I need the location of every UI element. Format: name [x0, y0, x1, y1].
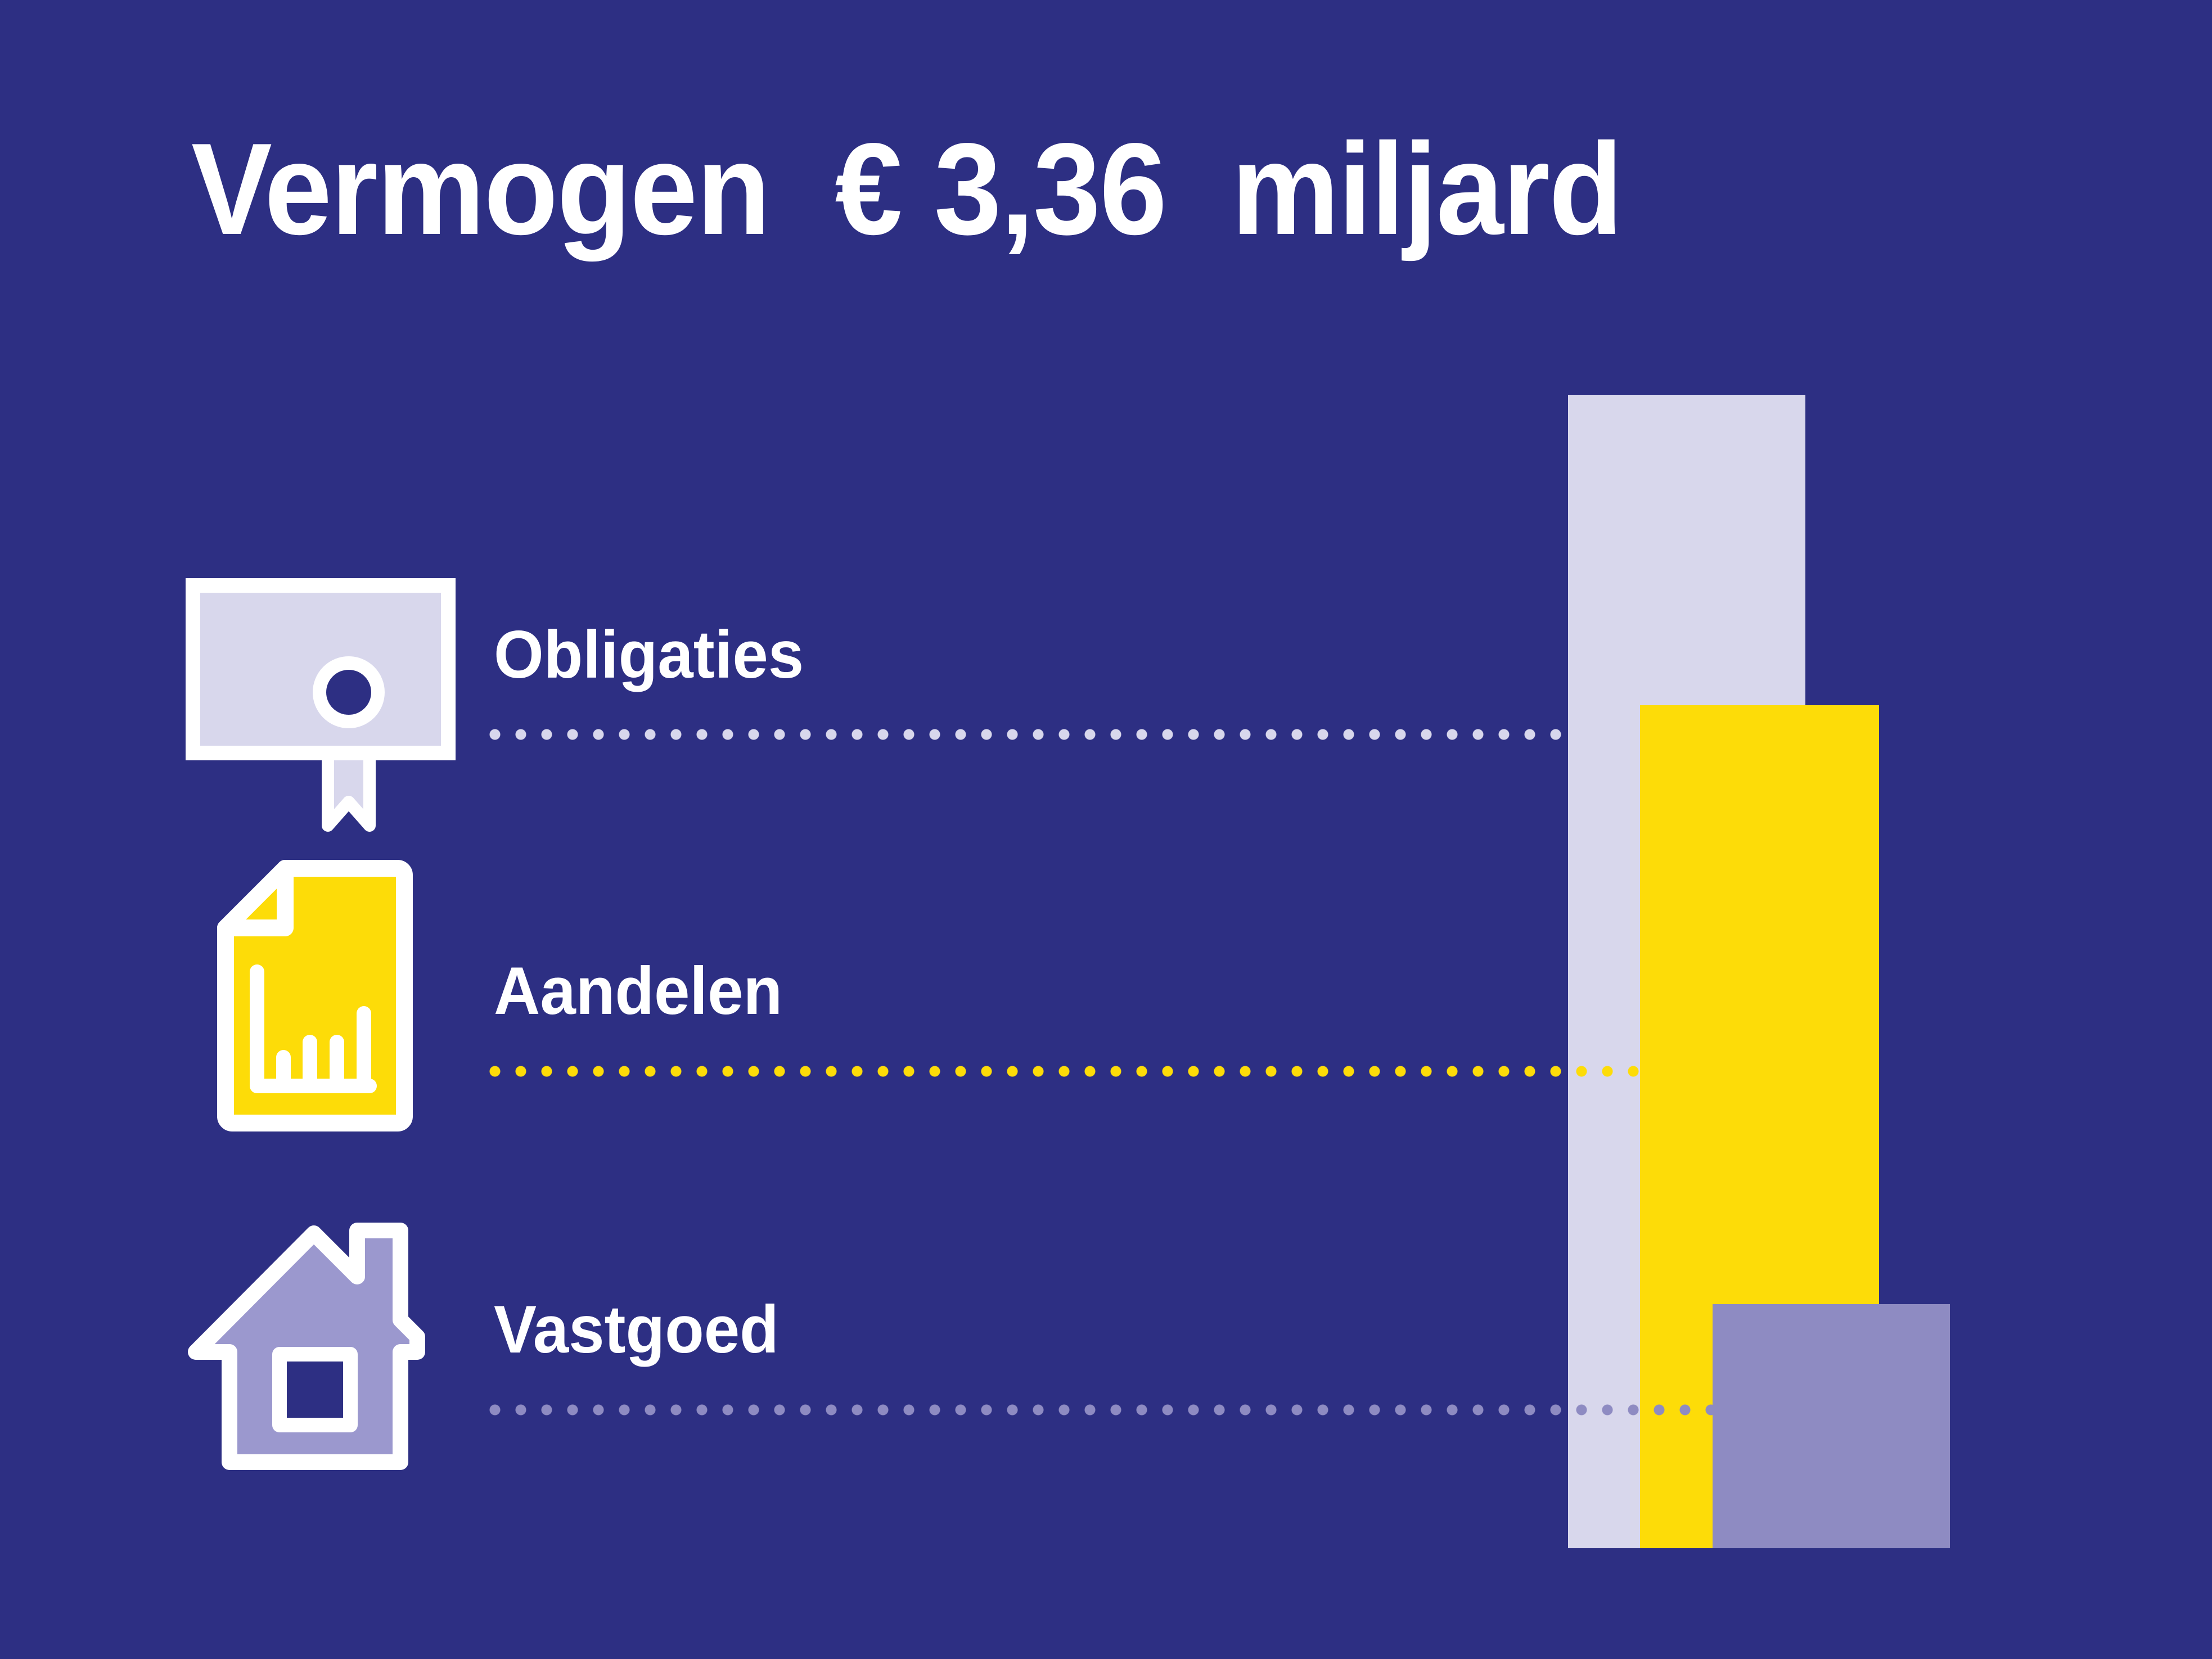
infographic-canvas: Vermogen € 3,36 miljard Obligaties [0, 0, 2212, 1659]
certificate-icon [186, 578, 456, 837]
legend-label-aandelen: Aandelen [494, 952, 782, 1030]
connector-line-aandelen [489, 1066, 1640, 1077]
connector-line-obligaties [489, 729, 1568, 740]
connector-line-vastgoed [489, 1404, 1713, 1415]
legend-label-obligaties: Obligaties [494, 616, 804, 693]
legend-label-vastgoed: Vastgoed [494, 1291, 779, 1368]
house-icon [186, 1208, 427, 1472]
document-chart-icon [217, 859, 413, 1132]
page-title: Vermogen € 3,36 miljard [191, 121, 1622, 258]
bar-vastgoed [1713, 1304, 1950, 1548]
